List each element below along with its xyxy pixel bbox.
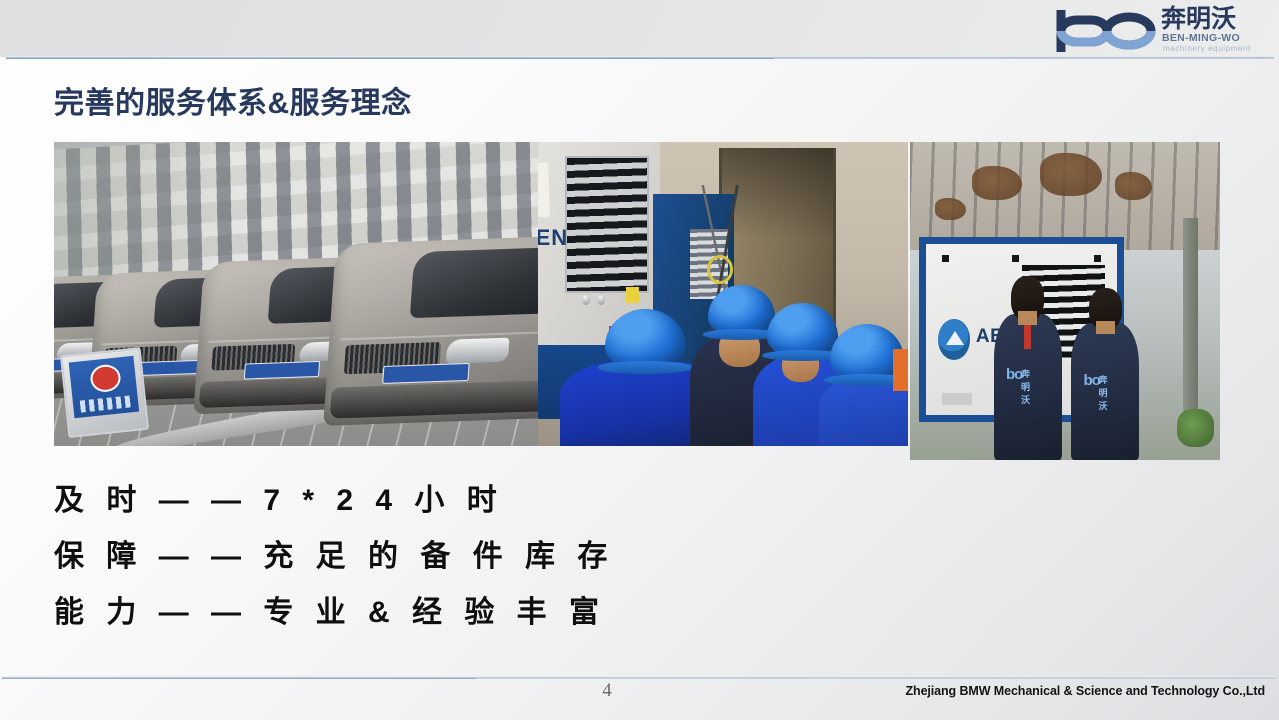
logo-tagline: machinery equipment [1163,44,1251,53]
footer-company-name: Zhejiang BMW Mechanical & Science and Te… [906,684,1266,698]
equipment-detail [893,349,908,392]
slide: 奔明沃 BEN-MING-WO machinery equipment 完善的服… [0,0,1279,720]
page-title: 完善的服务体系&服务理念 [54,78,412,122]
logo-wordmark: 奔明沃 BEN-MING-WO machinery equipment [1161,5,1269,55]
header-divider [6,56,1274,59]
uniform-logo: bo奔明沃 [1006,363,1037,386]
logo-pinyin: BEN-MING-WO [1162,33,1240,44]
technician: bo奔明沃 [994,314,1062,460]
photo-strip: EN [54,142,1220,462]
body-text: 及 时 — — 7 * 2 4 小 时 保 障 — — 充 足 的 备 件 库 … [54,473,754,641]
logo-chinese-name: 奔明沃 [1161,6,1236,33]
technician: bo奔明沃 [1071,323,1139,460]
body-line-2: 保 障 — — 充 足 的 备 件 库 存 [54,529,754,585]
body-line-3: 能 力 — — 专 业 & 经 验 丰 富 [54,585,754,641]
onsite-service-photo: EN [538,142,908,446]
support-pillar [1183,218,1199,422]
service-fleet-photo [54,142,538,446]
footer-divider [2,676,1276,679]
company-logo: 奔明沃 BEN-MING-WO machinery equipment [1043,5,1271,55]
parked-car [323,234,538,426]
parking-sign [60,347,150,438]
corrugated-roof [910,142,1220,250]
aerzen-maintenance-photo: AERZEN bo奔明沃 bo奔明沃 [910,142,1220,460]
uniform-logo: bo奔明沃 [1083,370,1114,392]
foliage [1177,409,1214,447]
aerzen-logo-icon [938,319,970,360]
body-line-1: 及 时 — — 7 * 2 4 小 时 [54,473,754,529]
bo-monogram-icon [1053,7,1161,55]
